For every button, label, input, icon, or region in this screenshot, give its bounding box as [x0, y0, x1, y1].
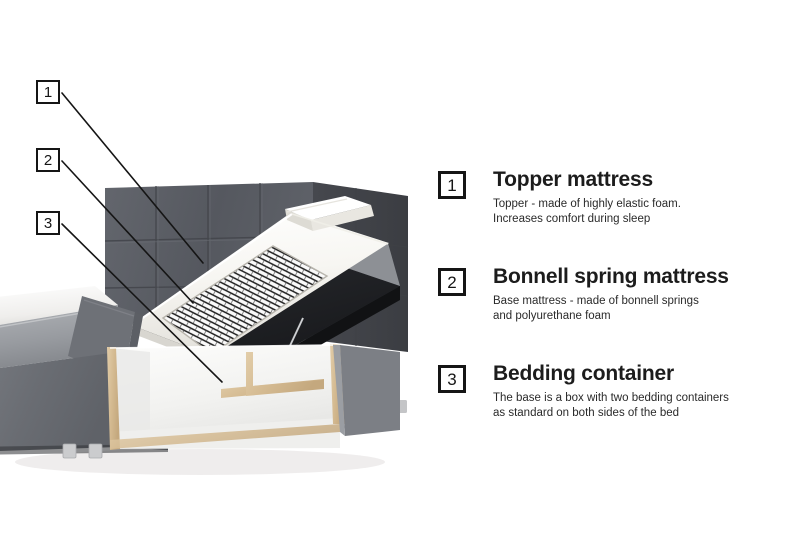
diagram-page: 1 2 3 1 Topper mattress Topper - made of… — [0, 0, 800, 533]
legend-desc-line-1a: Topper - made of highly elastic foam. — [493, 197, 800, 212]
legend-panel: 1 Topper mattress Topper - made of highl… — [438, 0, 800, 533]
container-outer-wall — [340, 345, 400, 436]
callout-box-3: 3 — [36, 211, 60, 235]
legend-title-1: Topper mattress — [493, 168, 800, 192]
callout-box-1: 1 — [36, 80, 60, 104]
legend-number-2: 2 — [438, 268, 466, 296]
bed-foot-right — [89, 444, 102, 458]
bed-foot-left — [63, 444, 76, 458]
legend-item-bonnell-spring-mattress: 2 Bonnell spring mattress Base mattress … — [438, 265, 800, 324]
bedding-container — [107, 344, 400, 450]
legend-description-2: Base mattress - made of bonnell springs … — [493, 294, 800, 324]
legend-desc-line-3a: The base is a box with two bedding conta… — [493, 391, 800, 406]
legend-item-topper-mattress: 1 Topper mattress Topper - made of highl… — [438, 168, 800, 227]
base-box-left — [0, 352, 118, 452]
legend-item-bedding-container: 3 Bedding container The base is a box wi… — [438, 362, 800, 421]
legend-desc-line-1b: Increases comfort during sleep — [493, 212, 800, 227]
bed-cutaway-drawing — [0, 0, 420, 533]
legend-body-3: Bedding container The base is a box with… — [493, 362, 800, 421]
legend-description-1: Topper - made of highly elastic foam. In… — [493, 197, 800, 227]
legend-number-1: 1 — [438, 171, 466, 199]
legend-desc-line-2b: and polyurethane foam — [493, 309, 800, 324]
legend-body-2: Bonnell spring mattress Base mattress - … — [493, 265, 800, 324]
bed-illustration: 1 2 3 — [0, 0, 420, 533]
callout-box-2: 2 — [36, 148, 60, 172]
legend-title-2: Bonnell spring mattress — [493, 265, 800, 289]
legend-body-1: Topper mattress Topper - made of highly … — [493, 168, 800, 227]
legend-description-3: The base is a box with two bedding conta… — [493, 391, 800, 421]
legend-title-3: Bedding container — [493, 362, 800, 386]
legend-desc-line-3b: as standard on both sides of the bed — [493, 406, 800, 421]
legend-number-3: 3 — [438, 365, 466, 393]
legend-desc-line-2a: Base mattress - made of bonnell springs — [493, 294, 800, 309]
